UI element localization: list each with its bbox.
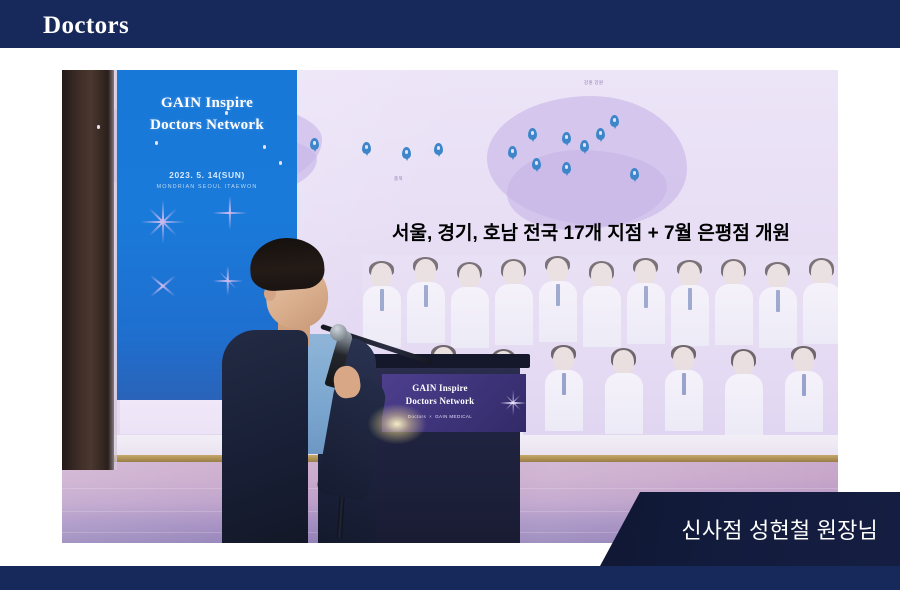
brand-logo-doctors: Doctors: [43, 13, 129, 38]
caption-text: 신사점 성현철 원장님: [600, 492, 878, 566]
map-pin: [402, 147, 411, 159]
sparkle-icon: [213, 196, 247, 230]
map-label-top: 강원 강원: [584, 80, 603, 86]
map-pin: [528, 128, 537, 140]
caption-banner: 신사점 성현철 원장님: [600, 492, 900, 566]
event-photo: 강원 강원 충북 서울, 경기, 호남 전국 17개 지점 + 7월 은평점 개…: [62, 70, 838, 543]
rollup-title-line2: Doctors Network: [117, 114, 297, 136]
map-pin: [610, 115, 619, 127]
map-pin: [434, 143, 443, 155]
sparkle-icon: [500, 390, 526, 416]
stage-curtain: [62, 70, 114, 470]
screen-headline-part3: + 7월 은평점 개원: [642, 223, 790, 244]
rollup-banner-venue: MONDRIAN SEOUL ITAEWON: [117, 184, 297, 190]
map-pin: [630, 168, 639, 180]
speaker-jacket-left: [222, 330, 308, 543]
map-pin: [596, 128, 605, 140]
rollup-title-line1: GAIN Inspire: [117, 92, 297, 114]
map-label-mid: 충북: [394, 176, 403, 182]
stage-curtain-edge: [108, 70, 117, 470]
bottom-brand-bar: [0, 566, 900, 590]
sparkle-icon: [141, 200, 185, 244]
screen-headline-part1: 서울, 경기, 호남: [392, 223, 523, 244]
speaker-person: [222, 238, 402, 543]
podium-logo-separator: ×: [426, 414, 435, 419]
rollup-banner-title: GAIN Inspire Doctors Network: [117, 92, 297, 136]
speaker-hair: [248, 235, 325, 292]
screen-headline: 서울, 경기, 호남 전국 17개 지점 + 7월 은평점 개원: [392, 218, 790, 245]
map-pin: [580, 140, 589, 152]
sparkle-icon: [147, 270, 179, 302]
map-pin: [532, 158, 541, 170]
rollup-banner-date: 2023. 5. 14(SUN): [117, 170, 297, 180]
screen-headline-part2: 전국 17개 지점: [523, 223, 642, 244]
light-flare: [368, 404, 426, 444]
top-brand-bar: [0, 0, 900, 48]
podium-logo-right: GAIN MEDICAL: [435, 414, 472, 419]
map-pin: [310, 138, 319, 150]
map-pin: [508, 146, 517, 158]
map-pin: [362, 142, 371, 154]
map-pin: [562, 162, 571, 174]
map-pin: [562, 132, 571, 144]
